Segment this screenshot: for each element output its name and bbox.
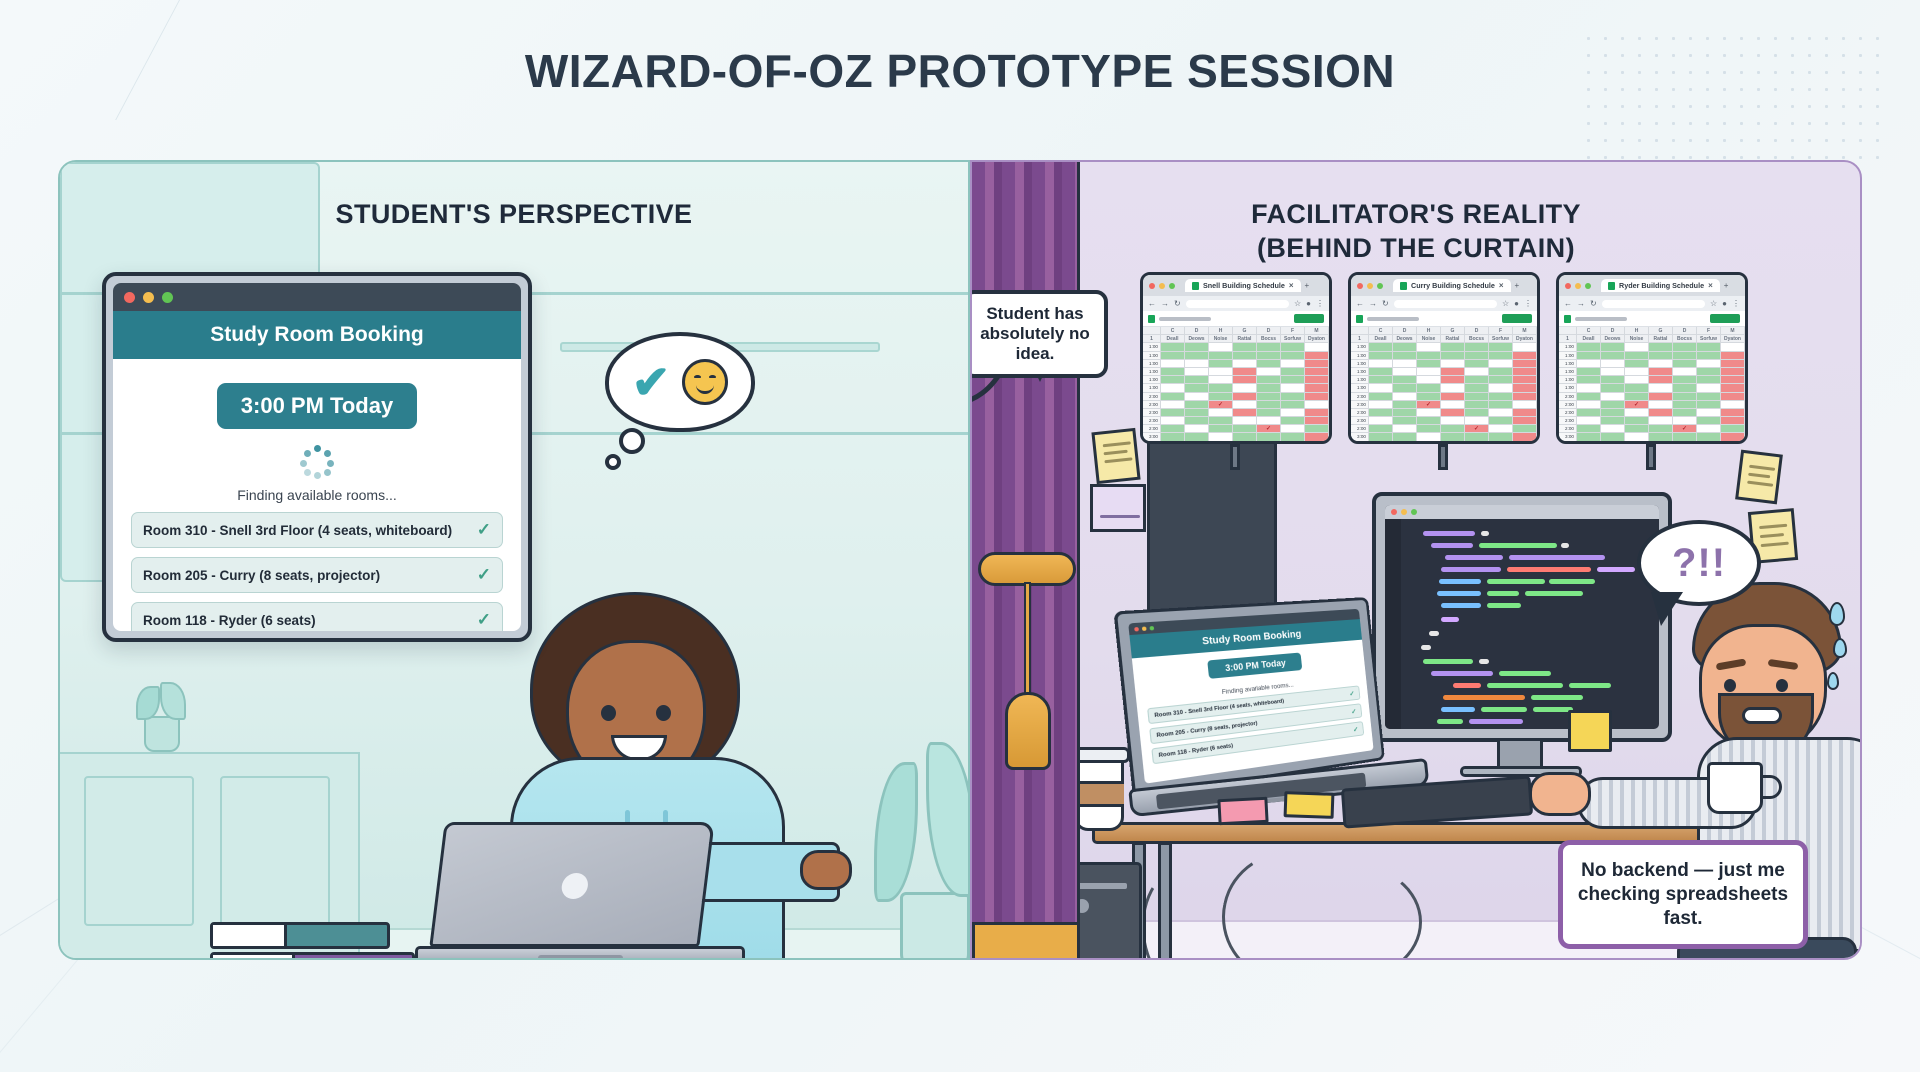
grid-cell[interactable] bbox=[1513, 384, 1537, 392]
grid-cell[interactable] bbox=[1441, 343, 1465, 351]
grid-cell[interactable] bbox=[1161, 384, 1185, 392]
grid-cell[interactable] bbox=[1281, 442, 1305, 444]
grid-cell[interactable] bbox=[1209, 442, 1233, 444]
grid-cell[interactable] bbox=[1185, 425, 1209, 433]
room-option-row[interactable]: Room 310 - Snell 3rd Floor (4 seats, whi… bbox=[131, 512, 503, 548]
grid-cell[interactable] bbox=[1721, 417, 1745, 425]
grid-cell[interactable] bbox=[1209, 433, 1233, 441]
grid-cell[interactable] bbox=[1369, 401, 1393, 409]
grid-cell[interactable] bbox=[1417, 409, 1441, 417]
grid-cell[interactable] bbox=[1393, 442, 1417, 444]
grid-cell[interactable]: ✓ bbox=[1465, 425, 1489, 433]
grid-cell[interactable] bbox=[1369, 360, 1393, 368]
grid-cell[interactable] bbox=[1417, 343, 1441, 351]
grid-cell[interactable] bbox=[1209, 409, 1233, 417]
grid-cell[interactable] bbox=[1465, 409, 1489, 417]
grid-cell[interactable] bbox=[1721, 376, 1745, 384]
grid-cell[interactable] bbox=[1185, 409, 1209, 417]
grid-cell[interactable] bbox=[1697, 376, 1721, 384]
grid-cell[interactable] bbox=[1721, 393, 1745, 401]
grid-cell[interactable] bbox=[1281, 417, 1305, 425]
close-icon[interactable] bbox=[1565, 283, 1571, 289]
grid-cell[interactable] bbox=[1673, 401, 1697, 409]
room-option-row[interactable]: Room 205 - Curry (8 seats, projector) ✓ bbox=[131, 557, 503, 593]
close-icon[interactable] bbox=[1357, 283, 1363, 289]
grid-cell[interactable]: ✓ bbox=[1257, 425, 1281, 433]
grid-cell[interactable] bbox=[1513, 417, 1537, 425]
grid-cell[interactable] bbox=[1577, 425, 1601, 433]
close-icon[interactable] bbox=[1391, 509, 1397, 515]
grid-cell[interactable] bbox=[1649, 360, 1673, 368]
grid-cell[interactable] bbox=[1489, 343, 1513, 351]
grid-cell[interactable] bbox=[1625, 425, 1649, 433]
grid-cell[interactable] bbox=[1625, 409, 1649, 417]
grid-cell[interactable] bbox=[1697, 360, 1721, 368]
grid-cell[interactable] bbox=[1441, 417, 1465, 425]
grid-cell[interactable] bbox=[1489, 384, 1513, 392]
grid-cell[interactable] bbox=[1257, 376, 1281, 384]
trackpad[interactable] bbox=[538, 955, 623, 960]
grid-cell[interactable] bbox=[1369, 368, 1393, 376]
grid-cell[interactable] bbox=[1281, 384, 1305, 392]
grid-cell[interactable]: ✓ bbox=[1673, 425, 1697, 433]
grid-cell[interactable] bbox=[1513, 393, 1537, 401]
address-bar[interactable]: ← → ↻ ☆ ● ⋮ bbox=[1351, 296, 1537, 311]
maximize-icon[interactable] bbox=[1411, 509, 1417, 515]
back-icon[interactable]: ← bbox=[1148, 299, 1156, 308]
grid-cell[interactable] bbox=[1601, 442, 1625, 444]
close-icon[interactable] bbox=[1149, 283, 1155, 289]
grid-cell[interactable] bbox=[1513, 433, 1537, 441]
grid-cell[interactable] bbox=[1465, 360, 1489, 368]
bookmark-star-icon[interactable]: ☆ bbox=[1502, 299, 1509, 308]
grid-cell[interactable] bbox=[1305, 360, 1329, 368]
grid-cell[interactable] bbox=[1417, 384, 1441, 392]
grid-cell[interactable] bbox=[1281, 425, 1305, 433]
grid-cell[interactable] bbox=[1305, 368, 1329, 376]
profile-icon[interactable]: ● bbox=[1306, 299, 1311, 308]
grid-cell[interactable] bbox=[1417, 368, 1441, 376]
grid-cell[interactable] bbox=[1465, 433, 1489, 441]
grid-cell[interactable] bbox=[1601, 343, 1625, 351]
grid-cell[interactable] bbox=[1233, 352, 1257, 360]
grid-cell[interactable] bbox=[1625, 343, 1649, 351]
spreadsheet-window-curry[interactable]: Curry Building Schedule × + ← → ↻ ☆ ● ⋮ … bbox=[1348, 272, 1540, 444]
grid-cell[interactable] bbox=[1369, 409, 1393, 417]
grid-cell[interactable] bbox=[1305, 442, 1329, 444]
grid-cell[interactable] bbox=[1393, 360, 1417, 368]
grid-cell[interactable] bbox=[1697, 384, 1721, 392]
grid-cell[interactable] bbox=[1649, 442, 1673, 444]
address-bar[interactable]: ← → ↻ ☆ ● ⋮ bbox=[1143, 296, 1329, 311]
grid-cell[interactable] bbox=[1185, 417, 1209, 425]
share-button[interactable] bbox=[1710, 314, 1740, 323]
grid-cell[interactable] bbox=[1305, 352, 1329, 360]
grid-cell[interactable] bbox=[1489, 360, 1513, 368]
reload-icon[interactable]: ↻ bbox=[1382, 299, 1389, 308]
minimize-icon[interactable] bbox=[1367, 283, 1373, 289]
grid-cell[interactable] bbox=[1697, 343, 1721, 351]
grid-cell[interactable] bbox=[1577, 442, 1601, 444]
schedule-grid[interactable]: CDHGDFM1DeallDeowsNoiseRattalBocssSorfuw… bbox=[1559, 327, 1745, 444]
forward-icon[interactable]: → bbox=[1369, 299, 1377, 308]
grid-cell[interactable] bbox=[1161, 360, 1185, 368]
grid-cell[interactable] bbox=[1209, 368, 1233, 376]
sheets-toolbar[interactable] bbox=[1559, 311, 1745, 327]
grid-cell[interactable] bbox=[1233, 360, 1257, 368]
grid-cell[interactable] bbox=[1601, 425, 1625, 433]
grid-cell[interactable] bbox=[1465, 343, 1489, 351]
grid-cell[interactable] bbox=[1673, 352, 1697, 360]
grid-cell[interactable] bbox=[1305, 384, 1329, 392]
grid-cell[interactable] bbox=[1441, 433, 1465, 441]
grid-cell[interactable] bbox=[1649, 417, 1673, 425]
schedule-grid[interactable]: CDHGDFM1DeallDeowsNoiseRattalBocssSorfuw… bbox=[1143, 327, 1329, 444]
grid-cell[interactable] bbox=[1369, 376, 1393, 384]
grid-cell[interactable] bbox=[1697, 401, 1721, 409]
grid-cell[interactable] bbox=[1625, 368, 1649, 376]
grid-cell[interactable] bbox=[1281, 360, 1305, 368]
grid-cell[interactable] bbox=[1161, 343, 1185, 351]
grid-cell[interactable] bbox=[1513, 401, 1537, 409]
menu-icon[interactable]: ⋮ bbox=[1316, 299, 1324, 308]
grid-cell[interactable] bbox=[1185, 384, 1209, 392]
maximize-icon[interactable] bbox=[1169, 283, 1175, 289]
grid-cell[interactable] bbox=[1417, 425, 1441, 433]
grid-cell[interactable] bbox=[1513, 442, 1537, 444]
sheets-toolbar[interactable] bbox=[1143, 311, 1329, 327]
grid-cell[interactable] bbox=[1577, 360, 1601, 368]
grid-cell[interactable] bbox=[1489, 425, 1513, 433]
grid-cell[interactable] bbox=[1697, 352, 1721, 360]
grid-cell[interactable] bbox=[1281, 401, 1305, 409]
grid-cell[interactable] bbox=[1577, 384, 1601, 392]
grid-cell[interactable] bbox=[1601, 401, 1625, 409]
grid-cell[interactable] bbox=[1513, 343, 1537, 351]
grid-cell[interactable] bbox=[1577, 433, 1601, 441]
new-tab-icon[interactable]: + bbox=[1724, 281, 1729, 290]
grid-cell[interactable] bbox=[1161, 393, 1185, 401]
grid-cell[interactable] bbox=[1417, 417, 1441, 425]
grid-cell[interactable] bbox=[1209, 417, 1233, 425]
grid-cell[interactable] bbox=[1489, 401, 1513, 409]
tab-close-icon[interactable]: × bbox=[1708, 281, 1713, 290]
grid-cell[interactable] bbox=[1513, 352, 1537, 360]
browser-tab[interactable]: Ryder Building Schedule × bbox=[1601, 279, 1720, 292]
grid-cell[interactable] bbox=[1393, 393, 1417, 401]
grid-cell[interactable] bbox=[1185, 376, 1209, 384]
grid-cell[interactable] bbox=[1209, 360, 1233, 368]
grid-cell[interactable] bbox=[1209, 393, 1233, 401]
grid-cell[interactable] bbox=[1441, 409, 1465, 417]
grid-cell[interactable] bbox=[1489, 409, 1513, 417]
room-option-row[interactable]: Room 118 - Ryder (6 seats) ✓ bbox=[131, 602, 503, 631]
grid-cell[interactable] bbox=[1209, 384, 1233, 392]
grid-cell[interactable] bbox=[1161, 401, 1185, 409]
grid-cell[interactable] bbox=[1369, 433, 1393, 441]
grid-cell[interactable] bbox=[1393, 343, 1417, 351]
grid-cell[interactable] bbox=[1649, 352, 1673, 360]
grid-cell[interactable] bbox=[1161, 352, 1185, 360]
grid-cell[interactable] bbox=[1649, 376, 1673, 384]
grid-cell[interactable] bbox=[1625, 433, 1649, 441]
grid-cell[interactable] bbox=[1185, 393, 1209, 401]
grid-cell[interactable] bbox=[1393, 401, 1417, 409]
grid-cell[interactable] bbox=[1721, 425, 1745, 433]
grid-cell[interactable] bbox=[1649, 343, 1673, 351]
grid-cell[interactable] bbox=[1369, 352, 1393, 360]
maximize-icon[interactable] bbox=[1377, 283, 1383, 289]
grid-cell[interactable] bbox=[1369, 425, 1393, 433]
grid-cell[interactable] bbox=[1233, 343, 1257, 351]
grid-cell[interactable] bbox=[1441, 393, 1465, 401]
grid-cell[interactable] bbox=[1441, 442, 1465, 444]
grid-cell[interactable] bbox=[1233, 368, 1257, 376]
schedule-grid[interactable]: CDHGDFM1DeallDeowsNoiseRattalBocssSorfuw… bbox=[1351, 327, 1537, 444]
grid-cell[interactable] bbox=[1257, 442, 1281, 444]
maximize-icon[interactable] bbox=[1149, 625, 1154, 629]
grid-cell[interactable] bbox=[1673, 368, 1697, 376]
grid-cell[interactable] bbox=[1673, 409, 1697, 417]
grid-cell[interactable] bbox=[1697, 368, 1721, 376]
grid-cell[interactable] bbox=[1369, 393, 1393, 401]
time-slot-pill[interactable]: 3:00 PM Today bbox=[217, 383, 417, 429]
grid-cell[interactable] bbox=[1257, 433, 1281, 441]
grid-cell[interactable] bbox=[1281, 409, 1305, 417]
url-field[interactable] bbox=[1394, 300, 1497, 308]
grid-cell[interactable] bbox=[1281, 433, 1305, 441]
grid-cell[interactable] bbox=[1257, 401, 1281, 409]
grid-cell[interactable] bbox=[1161, 368, 1185, 376]
browser-tab[interactable]: Snell Building Schedule × bbox=[1185, 279, 1301, 292]
spreadsheet-window-ryder[interactable]: Ryder Building Schedule × + ← → ↻ ☆ ● ⋮ … bbox=[1556, 272, 1748, 444]
grid-cell[interactable] bbox=[1417, 433, 1441, 441]
grid-cell[interactable] bbox=[1233, 433, 1257, 441]
grid-cell[interactable] bbox=[1721, 409, 1745, 417]
grid-cell[interactable] bbox=[1233, 384, 1257, 392]
grid-cell[interactable] bbox=[1417, 376, 1441, 384]
grid-cell[interactable] bbox=[1601, 376, 1625, 384]
grid-cell[interactable] bbox=[1601, 360, 1625, 368]
grid-cell[interactable] bbox=[1185, 433, 1209, 441]
address-bar[interactable]: ← → ↻ ☆ ● ⋮ bbox=[1559, 296, 1745, 311]
share-button[interactable] bbox=[1502, 314, 1532, 323]
grid-cell[interactable] bbox=[1257, 343, 1281, 351]
grid-cell[interactable] bbox=[1393, 425, 1417, 433]
grid-cell[interactable] bbox=[1489, 393, 1513, 401]
grid-cell[interactable] bbox=[1281, 352, 1305, 360]
grid-cell[interactable] bbox=[1625, 384, 1649, 392]
grid-cell[interactable] bbox=[1625, 393, 1649, 401]
grid-cell[interactable] bbox=[1393, 384, 1417, 392]
grid-cell[interactable] bbox=[1441, 368, 1465, 376]
grid-cell[interactable] bbox=[1257, 417, 1281, 425]
grid-cell[interactable] bbox=[1625, 376, 1649, 384]
grid-cell[interactable] bbox=[1513, 360, 1537, 368]
grid-cell[interactable] bbox=[1369, 442, 1393, 444]
grid-cell[interactable] bbox=[1577, 343, 1601, 351]
grid-cell[interactable] bbox=[1577, 417, 1601, 425]
grid-cell[interactable] bbox=[1257, 393, 1281, 401]
minimize-icon[interactable] bbox=[1401, 509, 1407, 515]
forward-icon[interactable]: → bbox=[1577, 299, 1585, 308]
grid-cell[interactable] bbox=[1185, 360, 1209, 368]
grid-cell[interactable] bbox=[1577, 393, 1601, 401]
bookmark-star-icon[interactable]: ☆ bbox=[1710, 299, 1717, 308]
grid-cell[interactable] bbox=[1649, 384, 1673, 392]
grid-cell[interactable] bbox=[1513, 425, 1537, 433]
minimize-icon[interactable] bbox=[1159, 283, 1165, 289]
grid-cell[interactable] bbox=[1697, 433, 1721, 441]
grid-cell[interactable] bbox=[1185, 343, 1209, 351]
close-icon[interactable] bbox=[1134, 626, 1139, 631]
grid-cell[interactable] bbox=[1281, 376, 1305, 384]
code-editor-screen[interactable] bbox=[1385, 505, 1659, 729]
grid-cell[interactable] bbox=[1209, 343, 1233, 351]
grid-cell[interactable] bbox=[1233, 393, 1257, 401]
browser-tab[interactable]: Curry Building Schedule × bbox=[1393, 279, 1511, 292]
grid-cell[interactable] bbox=[1185, 352, 1209, 360]
grid-cell[interactable] bbox=[1369, 343, 1393, 351]
grid-cell[interactable] bbox=[1601, 417, 1625, 425]
grid-cell[interactable] bbox=[1305, 401, 1329, 409]
grid-cell[interactable] bbox=[1489, 417, 1513, 425]
study-room-booking-window[interactable]: Study Room Booking 3:00 PM Today Finding… bbox=[102, 272, 532, 642]
grid-cell[interactable] bbox=[1305, 343, 1329, 351]
grid-cell[interactable] bbox=[1465, 352, 1489, 360]
grid-cell[interactable] bbox=[1649, 368, 1673, 376]
grid-cell[interactable] bbox=[1465, 393, 1489, 401]
grid-cell[interactable] bbox=[1649, 409, 1673, 417]
grid-cell[interactable] bbox=[1601, 433, 1625, 441]
grid-cell[interactable] bbox=[1233, 425, 1257, 433]
grid-cell[interactable] bbox=[1601, 384, 1625, 392]
grid-cell[interactable] bbox=[1161, 417, 1185, 425]
grid-cell[interactable] bbox=[1209, 352, 1233, 360]
grid-cell[interactable] bbox=[1233, 401, 1257, 409]
grid-cell[interactable] bbox=[1441, 401, 1465, 409]
minimize-icon[interactable] bbox=[1142, 626, 1147, 631]
grid-cell[interactable] bbox=[1185, 368, 1209, 376]
menu-icon[interactable]: ⋮ bbox=[1732, 299, 1740, 308]
grid-cell[interactable] bbox=[1257, 368, 1281, 376]
grid-cell[interactable] bbox=[1441, 384, 1465, 392]
grid-cell[interactable] bbox=[1441, 352, 1465, 360]
grid-cell[interactable] bbox=[1697, 393, 1721, 401]
grid-cell[interactable] bbox=[1465, 442, 1489, 444]
grid-cell[interactable] bbox=[1185, 401, 1209, 409]
grid-cell[interactable] bbox=[1721, 368, 1745, 376]
grid-cell[interactable] bbox=[1233, 442, 1257, 444]
url-field[interactable] bbox=[1186, 300, 1289, 308]
grid-cell[interactable] bbox=[1465, 376, 1489, 384]
grid-cell[interactable] bbox=[1601, 409, 1625, 417]
grid-cell[interactable] bbox=[1465, 401, 1489, 409]
back-icon[interactable]: ← bbox=[1356, 299, 1364, 308]
grid-cell[interactable] bbox=[1601, 368, 1625, 376]
grid-cell[interactable] bbox=[1721, 442, 1745, 444]
grid-cell[interactable] bbox=[1305, 433, 1329, 441]
grid-cell[interactable] bbox=[1369, 384, 1393, 392]
grid-cell[interactable] bbox=[1441, 425, 1465, 433]
grid-cell[interactable] bbox=[1465, 417, 1489, 425]
grid-cell[interactable] bbox=[1305, 376, 1329, 384]
grid-cell[interactable] bbox=[1625, 360, 1649, 368]
grid-cell[interactable] bbox=[1577, 352, 1601, 360]
minimize-icon[interactable] bbox=[143, 292, 154, 303]
grid-cell[interactable] bbox=[1233, 417, 1257, 425]
grid-cell[interactable] bbox=[1513, 409, 1537, 417]
grid-cell[interactable] bbox=[1721, 343, 1745, 351]
grid-cell[interactable] bbox=[1281, 368, 1305, 376]
tab-close-icon[interactable]: × bbox=[1499, 281, 1504, 290]
grid-cell[interactable] bbox=[1513, 368, 1537, 376]
grid-cell[interactable] bbox=[1209, 376, 1233, 384]
grid-cell[interactable] bbox=[1393, 376, 1417, 384]
grid-cell[interactable] bbox=[1649, 425, 1673, 433]
grid-cell[interactable] bbox=[1697, 409, 1721, 417]
minimize-icon[interactable] bbox=[1575, 283, 1581, 289]
grid-cell[interactable] bbox=[1369, 417, 1393, 425]
maximize-icon[interactable] bbox=[162, 292, 173, 303]
tab-close-icon[interactable]: × bbox=[1289, 281, 1294, 290]
grid-cell[interactable]: ✓ bbox=[1625, 401, 1649, 409]
grid-cell[interactable] bbox=[1673, 417, 1697, 425]
grid-cell[interactable] bbox=[1649, 433, 1673, 441]
grid-cell[interactable] bbox=[1697, 417, 1721, 425]
grid-cell[interactable] bbox=[1441, 376, 1465, 384]
grid-cell[interactable] bbox=[1601, 352, 1625, 360]
profile-icon[interactable]: ● bbox=[1722, 299, 1727, 308]
grid-cell[interactable] bbox=[1673, 384, 1697, 392]
student-laptop[interactable] bbox=[415, 822, 745, 960]
grid-cell[interactable] bbox=[1721, 352, 1745, 360]
grid-cell[interactable] bbox=[1489, 376, 1513, 384]
maximize-icon[interactable] bbox=[1585, 283, 1591, 289]
profile-icon[interactable]: ● bbox=[1514, 299, 1519, 308]
grid-cell[interactable] bbox=[1393, 352, 1417, 360]
grid-cell[interactable] bbox=[1465, 384, 1489, 392]
reload-icon[interactable]: ↻ bbox=[1174, 299, 1181, 308]
share-button[interactable] bbox=[1294, 314, 1324, 323]
grid-cell[interactable] bbox=[1281, 393, 1305, 401]
grid-cell[interactable] bbox=[1305, 417, 1329, 425]
grid-cell[interactable] bbox=[1417, 442, 1441, 444]
grid-cell[interactable] bbox=[1393, 417, 1417, 425]
new-tab-icon[interactable]: + bbox=[1305, 281, 1310, 290]
new-tab-icon[interactable]: + bbox=[1515, 281, 1520, 290]
grid-cell[interactable] bbox=[1577, 376, 1601, 384]
grid-cell[interactable] bbox=[1257, 409, 1281, 417]
grid-cell[interactable] bbox=[1489, 433, 1513, 441]
close-icon[interactable] bbox=[124, 292, 135, 303]
back-icon[interactable]: ← bbox=[1564, 299, 1572, 308]
grid-cell[interactable] bbox=[1513, 376, 1537, 384]
grid-cell[interactable] bbox=[1625, 417, 1649, 425]
grid-cell[interactable] bbox=[1673, 343, 1697, 351]
grid-cell[interactable] bbox=[1577, 409, 1601, 417]
grid-cell[interactable] bbox=[1697, 442, 1721, 444]
grid-cell[interactable] bbox=[1673, 376, 1697, 384]
grid-cell[interactable] bbox=[1281, 343, 1305, 351]
grid-cell[interactable] bbox=[1185, 442, 1209, 444]
grid-cell[interactable] bbox=[1673, 360, 1697, 368]
reload-icon[interactable]: ↻ bbox=[1590, 299, 1597, 308]
grid-cell[interactable] bbox=[1161, 376, 1185, 384]
grid-cell[interactable] bbox=[1257, 360, 1281, 368]
grid-cell[interactable] bbox=[1465, 368, 1489, 376]
grid-cell[interactable] bbox=[1721, 384, 1745, 392]
